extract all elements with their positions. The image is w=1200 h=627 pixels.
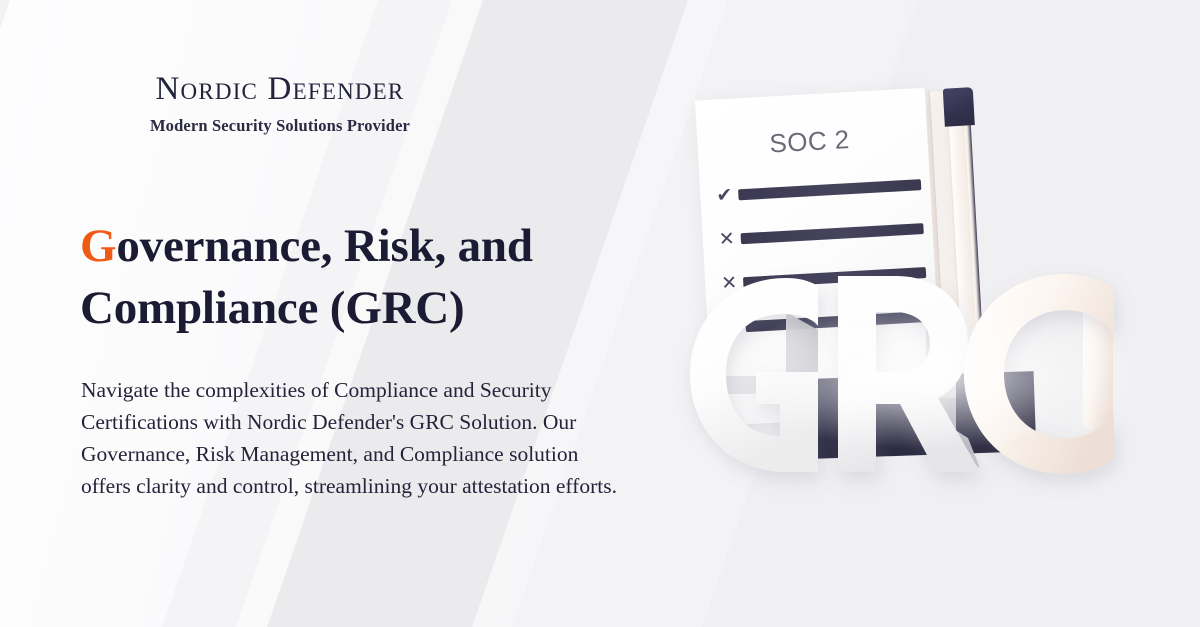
brand-logo-name: Nordic Defender	[115, 72, 445, 107]
cross-icon: ✕	[718, 229, 741, 249]
checklist-row: ✔	[715, 166, 922, 213]
document-title: SOC 2	[769, 124, 851, 159]
checklist-row: ✕	[718, 210, 925, 257]
description-paragraph: Navigate the complexities of Compliance …	[81, 374, 626, 502]
brand-logo[interactable]: Nordic Defender Modern Security Solution…	[115, 72, 445, 136]
grc-3d-letters	[668, 268, 1188, 483]
grc-illustration: SOC 2 ✔ ✕ ✕ ✔	[680, 0, 1200, 627]
headline-line-2: Compliance (GRC)	[80, 282, 465, 334]
headline-accent-letter: G	[80, 220, 116, 272]
diagonal-band	[0, 0, 72, 627]
headline-line-1: overnance, Risk, and	[116, 220, 532, 272]
brand-tagline: Modern Security Solutions Provider	[115, 116, 445, 136]
checklist-bar	[740, 223, 923, 244]
page-title: Governance, Risk, and Compliance (GRC)	[80, 216, 680, 338]
checklist-bar	[738, 179, 921, 200]
content-column: Nordic Defender Modern Security Solution…	[80, 0, 680, 627]
marketing-banner: Nordic Defender Modern Security Solution…	[0, 0, 1200, 627]
check-icon: ✔	[716, 185, 739, 205]
document-binding-clip	[943, 87, 975, 127]
